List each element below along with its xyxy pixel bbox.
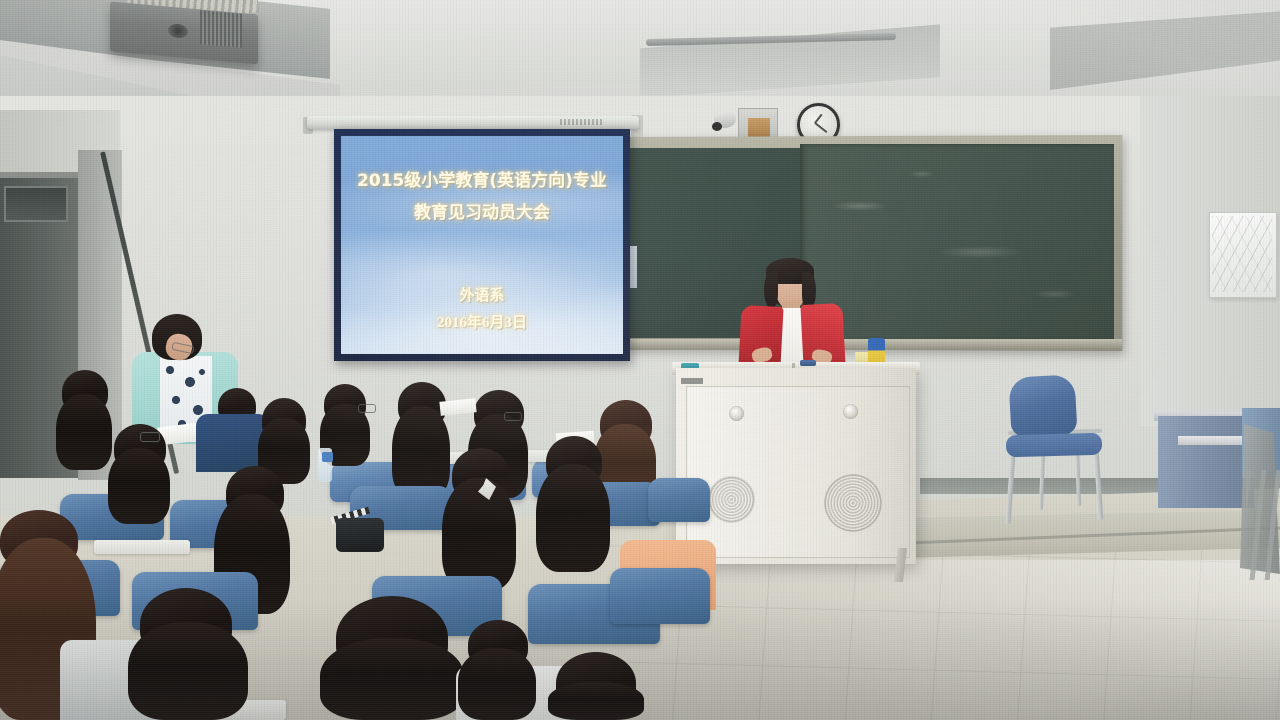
projector-vent-grille — [200, 10, 242, 48]
slide-title-line-2: 教育见习动员大会 — [341, 198, 623, 223]
audience-hair-long — [458, 648, 536, 720]
presenter-hair-side-left — [764, 272, 778, 308]
stacked-chair-legs — [1246, 470, 1280, 580]
audience-glasses-icon — [358, 404, 376, 413]
water-bottle-cap — [322, 452, 333, 462]
stage-chair-backrest[interactable] — [1008, 374, 1077, 437]
chalk-smudges — [800, 144, 1114, 342]
camera-lens-icon — [712, 122, 722, 131]
audience-hair-long — [442, 478, 516, 590]
slide-title-line-1: 2015级小学教育(英语方向)专业 — [341, 166, 623, 191]
right-desk[interactable] — [1158, 416, 1254, 508]
poster-content — [1212, 216, 1272, 292]
wall-junction-box-inner — [748, 118, 770, 138]
audience-hair-long — [392, 406, 450, 498]
chair-back[interactable] — [648, 478, 710, 522]
projection-screen-surface: 2015级小学教育(英语方向)专业 教育见习动员大会 外语系 2016年6月3日 — [341, 136, 623, 354]
podium-speaker-left — [708, 476, 755, 523]
slide-date: 2016年6月3日 — [341, 311, 623, 332]
podium-speaker-right — [824, 474, 882, 532]
podium-knob-right[interactable] — [843, 404, 858, 419]
audience-glasses-icon — [504, 412, 522, 421]
screen-brand-label — [560, 119, 602, 125]
chair-back[interactable] — [610, 568, 710, 624]
remote-on-podium[interactable] — [800, 360, 816, 366]
audience-hair-long — [56, 394, 112, 470]
audience-hair-long — [548, 682, 644, 720]
podium-front-panel — [686, 386, 910, 558]
podium-knob-left[interactable] — [729, 406, 744, 421]
floor-reflection — [640, 560, 1280, 720]
classroom-photo: 2015级小学教育(英语方向)专业 教育见习动员大会 外语系 2016年6月3日 — [0, 0, 1280, 720]
audience-hair-long — [320, 638, 464, 720]
stage-chair-seat[interactable] — [1006, 433, 1103, 458]
audience-glasses-icon — [140, 432, 160, 442]
audience-hair-long — [128, 622, 248, 720]
camera-bag[interactable] — [336, 518, 384, 552]
desk-plate — [94, 540, 190, 554]
slide-department: 外语系 — [341, 284, 623, 305]
door-transom-window — [4, 186, 68, 222]
audience-hair-long — [108, 448, 170, 524]
podium-brand-label — [681, 378, 703, 384]
audience-hair-long — [536, 464, 610, 572]
